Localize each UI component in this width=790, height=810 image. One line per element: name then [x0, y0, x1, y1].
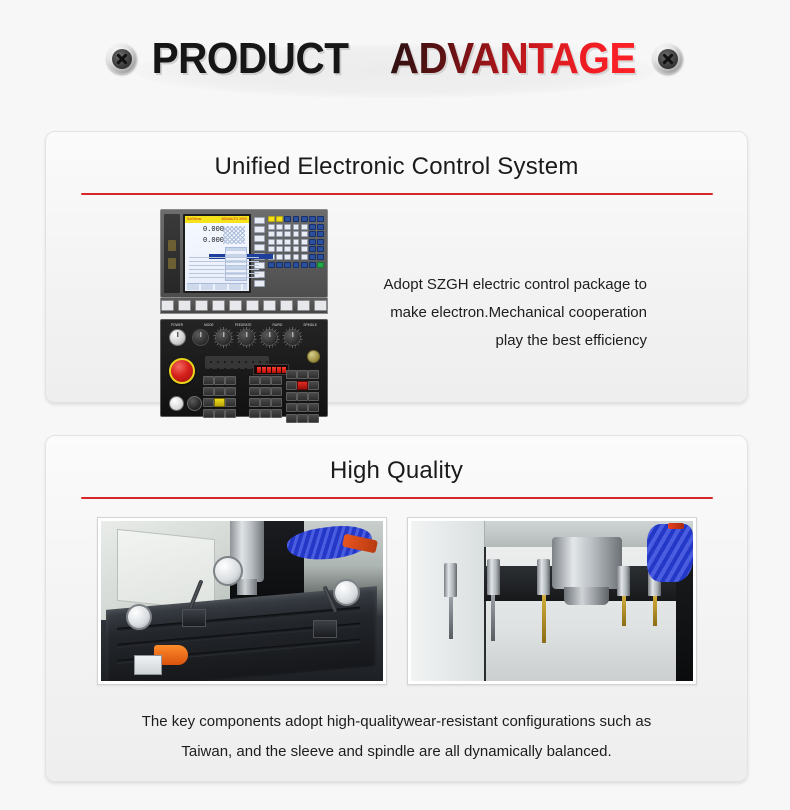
cycle-start-button[interactable]	[169, 396, 184, 411]
machine-side-cabinet	[411, 521, 485, 681]
card-high-quality: High Quality	[45, 435, 748, 782]
card-title-quality: High Quality	[46, 436, 747, 485]
card-divider-quality	[81, 497, 713, 499]
cnc-coordinate-x: 0.000	[188, 225, 224, 236]
cnc-side-connector	[164, 214, 180, 293]
operator-panel-selector-dial	[307, 350, 320, 363]
quality-description: The key components adopt high-qualitywea…	[46, 707, 747, 767]
card-title-control: Unified Electronic Control System	[46, 132, 747, 181]
feedrate-override-knob	[238, 329, 255, 346]
cnc-screen-body: 0.000 0.000	[185, 223, 249, 291]
operator-panel-button-grid-middle	[249, 376, 280, 418]
cnc-bottom-softkey-row	[160, 298, 328, 314]
control-content-row: SzGHcnc MDI/AUTO X000 0.000 0.000	[46, 195, 747, 417]
banner-title-advantage: ADVANTAGE	[390, 37, 636, 81]
measuring-instrument-box	[134, 655, 162, 675]
cnc-screen: SzGHcnc MDI/AUTO X000 0.000 0.000	[185, 216, 249, 291]
emergency-stop-button[interactable]	[169, 358, 195, 384]
mode-selector-knob	[215, 329, 232, 346]
dial-indicator-left	[126, 604, 152, 630]
cnc-screen-softkey-row	[187, 283, 247, 290]
operator-panel-knob-row	[165, 329, 323, 346]
control-description-line-1: Adopt SZGH electric control package to	[328, 271, 647, 299]
quality-description-line-1: The key components adopt high-qualitywea…	[46, 707, 747, 737]
power-knob	[169, 329, 186, 346]
banner-title-group: PRODUCT ADVANTAGE	[107, 37, 683, 81]
coolant-nozzle-icon-right	[668, 523, 684, 529]
dial-indicator-right	[333, 579, 360, 606]
operator-panel-button-grid-left	[203, 376, 234, 418]
photo-tool-magazine	[407, 517, 697, 685]
cnc-screen-text-lines	[189, 257, 259, 279]
tool-holder-4	[617, 566, 630, 596]
tool-holder-2	[487, 559, 500, 595]
photo-machine-table	[97, 517, 387, 685]
spindle-carousel	[552, 537, 622, 589]
cnc-screen-header-left: SzGHcnc	[187, 218, 201, 221]
cnc-operator-panel: POWERMODEFEEDRATERAPIDSPINDLE	[160, 319, 328, 417]
cnc-screen-bezel: SzGHcnc MDI/AUTO X000 0.000 0.000	[183, 214, 251, 293]
cnc-keypad	[268, 214, 324, 293]
feed-hold-button[interactable]	[187, 396, 202, 411]
cnc-display-unit: SzGHcnc MDI/AUTO X000 0.000 0.000	[160, 209, 328, 298]
magnetic-base-right	[313, 620, 337, 638]
cnc-screen-hatch-graphic	[223, 226, 245, 244]
screw-icon-right	[653, 44, 683, 74]
key-switch-knob	[192, 329, 209, 346]
control-description: Adopt SZGH electric control package to m…	[328, 271, 747, 355]
banner-title-product: PRODUCT	[152, 37, 349, 81]
rapid-override-knob	[261, 329, 278, 346]
tool-holder-3	[537, 559, 550, 595]
quality-photo-row	[46, 517, 747, 685]
magnetic-base-left	[182, 609, 206, 627]
control-description-line-3: play the best efficiency	[328, 327, 647, 355]
quality-description-line-2: Taiwan, and the sleeve and spindle are a…	[46, 737, 747, 767]
cnc-control-panel-image: SzGHcnc MDI/AUTO X000 0.000 0.000	[160, 209, 328, 417]
control-description-line-2: make electron.Mechanical cooperation	[328, 299, 647, 327]
tool-holder-1	[444, 563, 457, 597]
cnc-screen-header-right: MDI/AUTO X000	[222, 218, 247, 221]
cnc-coordinate-y: 0.000	[188, 236, 224, 247]
spindle-override-knob	[284, 329, 301, 346]
operator-panel-led-display	[253, 364, 289, 375]
card-unified-electronic-control-system: Unified Electronic Control System SzGHcn…	[45, 131, 748, 403]
cnc-screen-header: SzGHcnc MDI/AUTO X000	[185, 216, 249, 223]
screw-icon-left	[107, 44, 137, 74]
coolant-hose-icon-right	[647, 524, 692, 582]
machine-access-panel	[117, 529, 215, 612]
operator-panel-button-grid-right	[286, 370, 317, 423]
page-banner: PRODUCT ADVANTAGE	[0, 0, 790, 118]
